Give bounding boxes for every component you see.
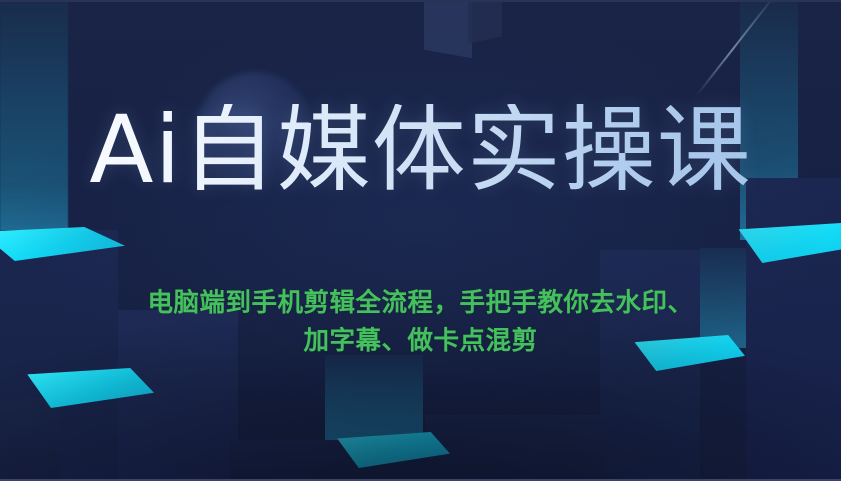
banner-subtitle: 电脑端到手机剪辑全流程，手把手教你去水印、 加字幕、做卡点混剪	[66, 284, 776, 360]
banner-subtitle-line-1: 电脑端到手机剪辑全流程，手把手教你去水印、	[66, 284, 776, 322]
frame-edge-top	[0, 0, 841, 2]
background-vignette	[0, 0, 841, 481]
banner-title: Ai自媒体实操课	[0, 104, 841, 198]
course-banner: Ai自媒体实操课 Ai自媒体实操课 电脑端到手机剪辑全流程，手把手教你去水印、 …	[0, 0, 841, 481]
banner-subtitle-line-2: 加字幕、做卡点混剪	[66, 322, 776, 360]
